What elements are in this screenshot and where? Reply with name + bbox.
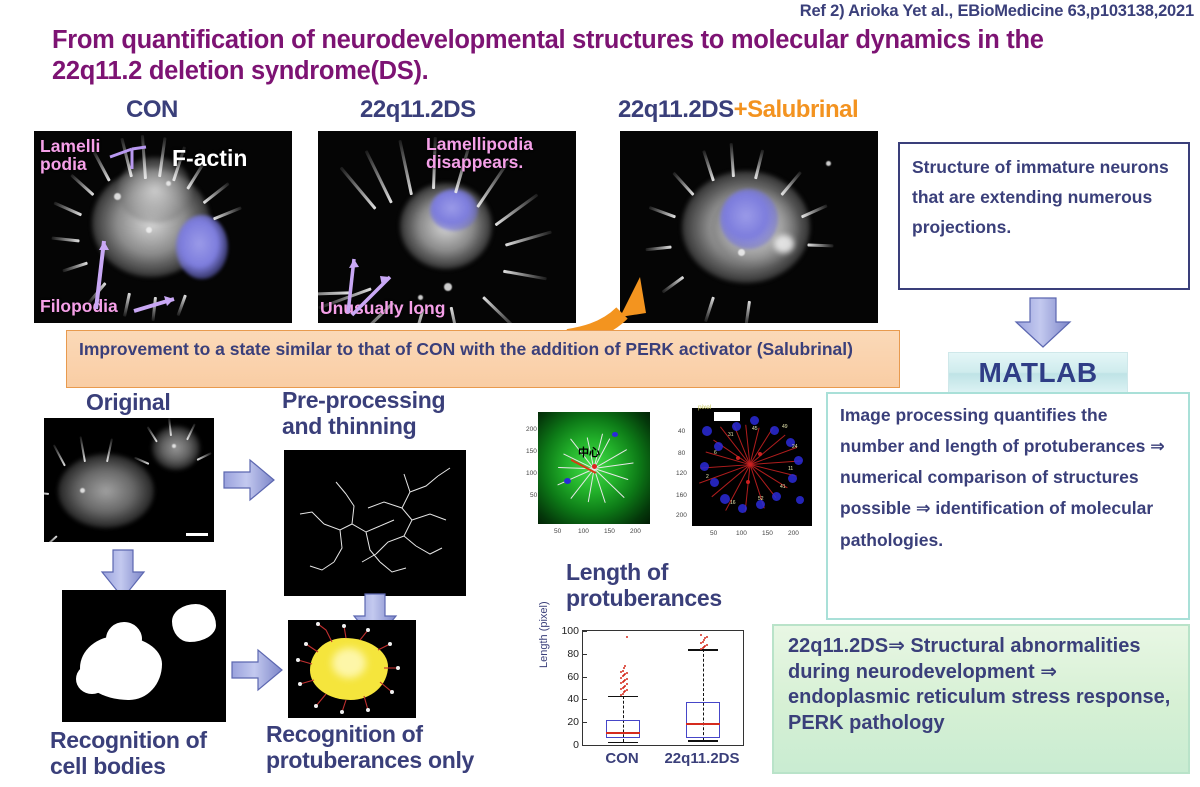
microscopy-panel-22q11-2ds: Lamellipodia disappears. Unusually long xyxy=(318,131,576,323)
boxplot-outlier xyxy=(626,636,628,638)
boxplot-y-tickmark xyxy=(583,745,587,746)
boxplot-box xyxy=(606,720,640,738)
boxplot-length-of-protuberances: Length (pixel) 020406080100 CON22q11.2DS xyxy=(540,624,760,782)
boxplot-whisker-cap xyxy=(608,742,638,743)
workflow-image-protuberances-only xyxy=(288,620,416,718)
column-header-salubrinal-base: 22q11.2DS xyxy=(618,96,734,123)
boxplot-x-label: CON xyxy=(605,750,638,767)
boxplot-outlier xyxy=(706,644,708,646)
workflow-image-original xyxy=(44,418,214,542)
column-header-con: CON xyxy=(126,96,178,124)
annotation-lamellipodia-disappears: Lamellipodia disappears. xyxy=(426,135,533,172)
boxplot-y-tickmark xyxy=(583,722,587,723)
skeleton-branch-plot: 31 45 49 24 11 41 52 16 2 6 xyxy=(692,408,812,526)
boxplot-y-tickmark xyxy=(583,677,587,678)
boxplot-y-tick: 0 xyxy=(573,739,579,751)
arrow-original-to-preprocessing xyxy=(222,458,276,502)
workflow-label-cell-bodies: Recognition of cell bodies xyxy=(50,728,207,780)
matlab-green-analysis-panel: 中心 200 150 100 50 50 100 150 200 xyxy=(516,408,656,550)
boxplot-box xyxy=(686,702,720,738)
matlab-skeleton-analysis-panel: 31 45 49 24 11 41 52 16 2 6 pixel 40 80 … xyxy=(676,404,822,550)
boxplot-median-line xyxy=(606,732,640,734)
boxplot-outlier xyxy=(700,634,702,636)
boxplot-outlier xyxy=(626,689,628,691)
boxplot-y-tick: 20 xyxy=(567,716,579,728)
boxplot-whisker-cap xyxy=(608,696,638,697)
boxplot-whisker-cap xyxy=(688,740,718,741)
boxplot-y-tick: 40 xyxy=(567,693,579,705)
workflow-label-original: Original xyxy=(86,390,171,416)
boxplot-y-tick: 80 xyxy=(567,648,579,660)
conclusion-box: 22q11.2DS⇒ Structural abnormalities duri… xyxy=(772,624,1190,774)
boxplot-outlier xyxy=(626,683,628,685)
column-header-22q11-2ds: 22q11.2DS xyxy=(360,96,476,124)
arrow-mask-to-protuberances xyxy=(230,648,284,692)
boxplot-y-tick: 60 xyxy=(567,671,579,683)
boxplot-y-axis-label: Length (pixel) xyxy=(538,601,550,668)
boxplot-x-label: 22q11.2DS xyxy=(664,750,739,767)
boxplot-y-tickmark xyxy=(583,631,587,632)
boxplot-outlier xyxy=(702,641,704,643)
skeleton-pixel-label: pixel xyxy=(698,404,711,411)
boxplot-outlier xyxy=(626,672,628,674)
annotation-f-actin: F-actin xyxy=(172,145,247,172)
column-header-salubrinal: 22q11.2DS+Salubrinal xyxy=(618,96,858,124)
green-fluorescence-image: 中心 xyxy=(538,412,650,524)
microscopy-panel-con: Lamelli podia F-actin Filopodia xyxy=(34,131,292,323)
boxplot-outlier xyxy=(703,639,705,641)
microscopy-panel-salubrinal xyxy=(620,131,878,323)
image-processing-box: Image processing quantifies the number a… xyxy=(826,392,1190,620)
workflow-image-cell-bodies-mask xyxy=(62,590,226,722)
boxplot-outlier xyxy=(622,670,624,672)
annotation-filopodia-con: Filopodia xyxy=(40,297,118,315)
boxplot-plot-area: 020406080100 xyxy=(582,630,744,746)
workflow-label-length-of-protuberances: Length of protuberances xyxy=(566,560,722,612)
workflow-image-thinning xyxy=(284,450,466,596)
boxplot-whisker-cap xyxy=(688,649,718,650)
annotation-unusually-long: Unusually long xyxy=(320,299,445,317)
boxplot-outlier xyxy=(624,665,626,667)
orange-improvement-banner: Improvement to a state similar to that o… xyxy=(66,330,900,388)
annotation-lamellipodia-con: Lamelli podia xyxy=(40,137,100,174)
boxplot-y-tickmark xyxy=(583,654,587,655)
down-arrow-to-matlab xyxy=(1012,296,1074,350)
center-label-japanese: 中心 xyxy=(578,444,600,460)
boxplot-outlier xyxy=(626,678,628,680)
matlab-label-box: MATLAB xyxy=(948,352,1128,394)
reference-citation: Ref 2) Arioka Yet al., EBioMedicine 63,p… xyxy=(800,2,1194,21)
boxplot-y-tick: 100 xyxy=(561,625,579,637)
column-header-salubrinal-suffix: +Salubrinal xyxy=(734,96,859,123)
workflow-label-preprocessing: Pre-processing and thinning xyxy=(282,388,445,440)
boxplot-y-tickmark xyxy=(583,699,587,700)
boxplot-outlier xyxy=(706,636,708,638)
workflow-label-protuberances-only: Recognition of protuberances only xyxy=(266,722,474,774)
slide-title: From quantification of neurodevelopmenta… xyxy=(52,25,1052,87)
boxplot-median-line xyxy=(686,723,720,725)
immature-neurons-box: Structure of immature neurons that are e… xyxy=(898,142,1190,290)
